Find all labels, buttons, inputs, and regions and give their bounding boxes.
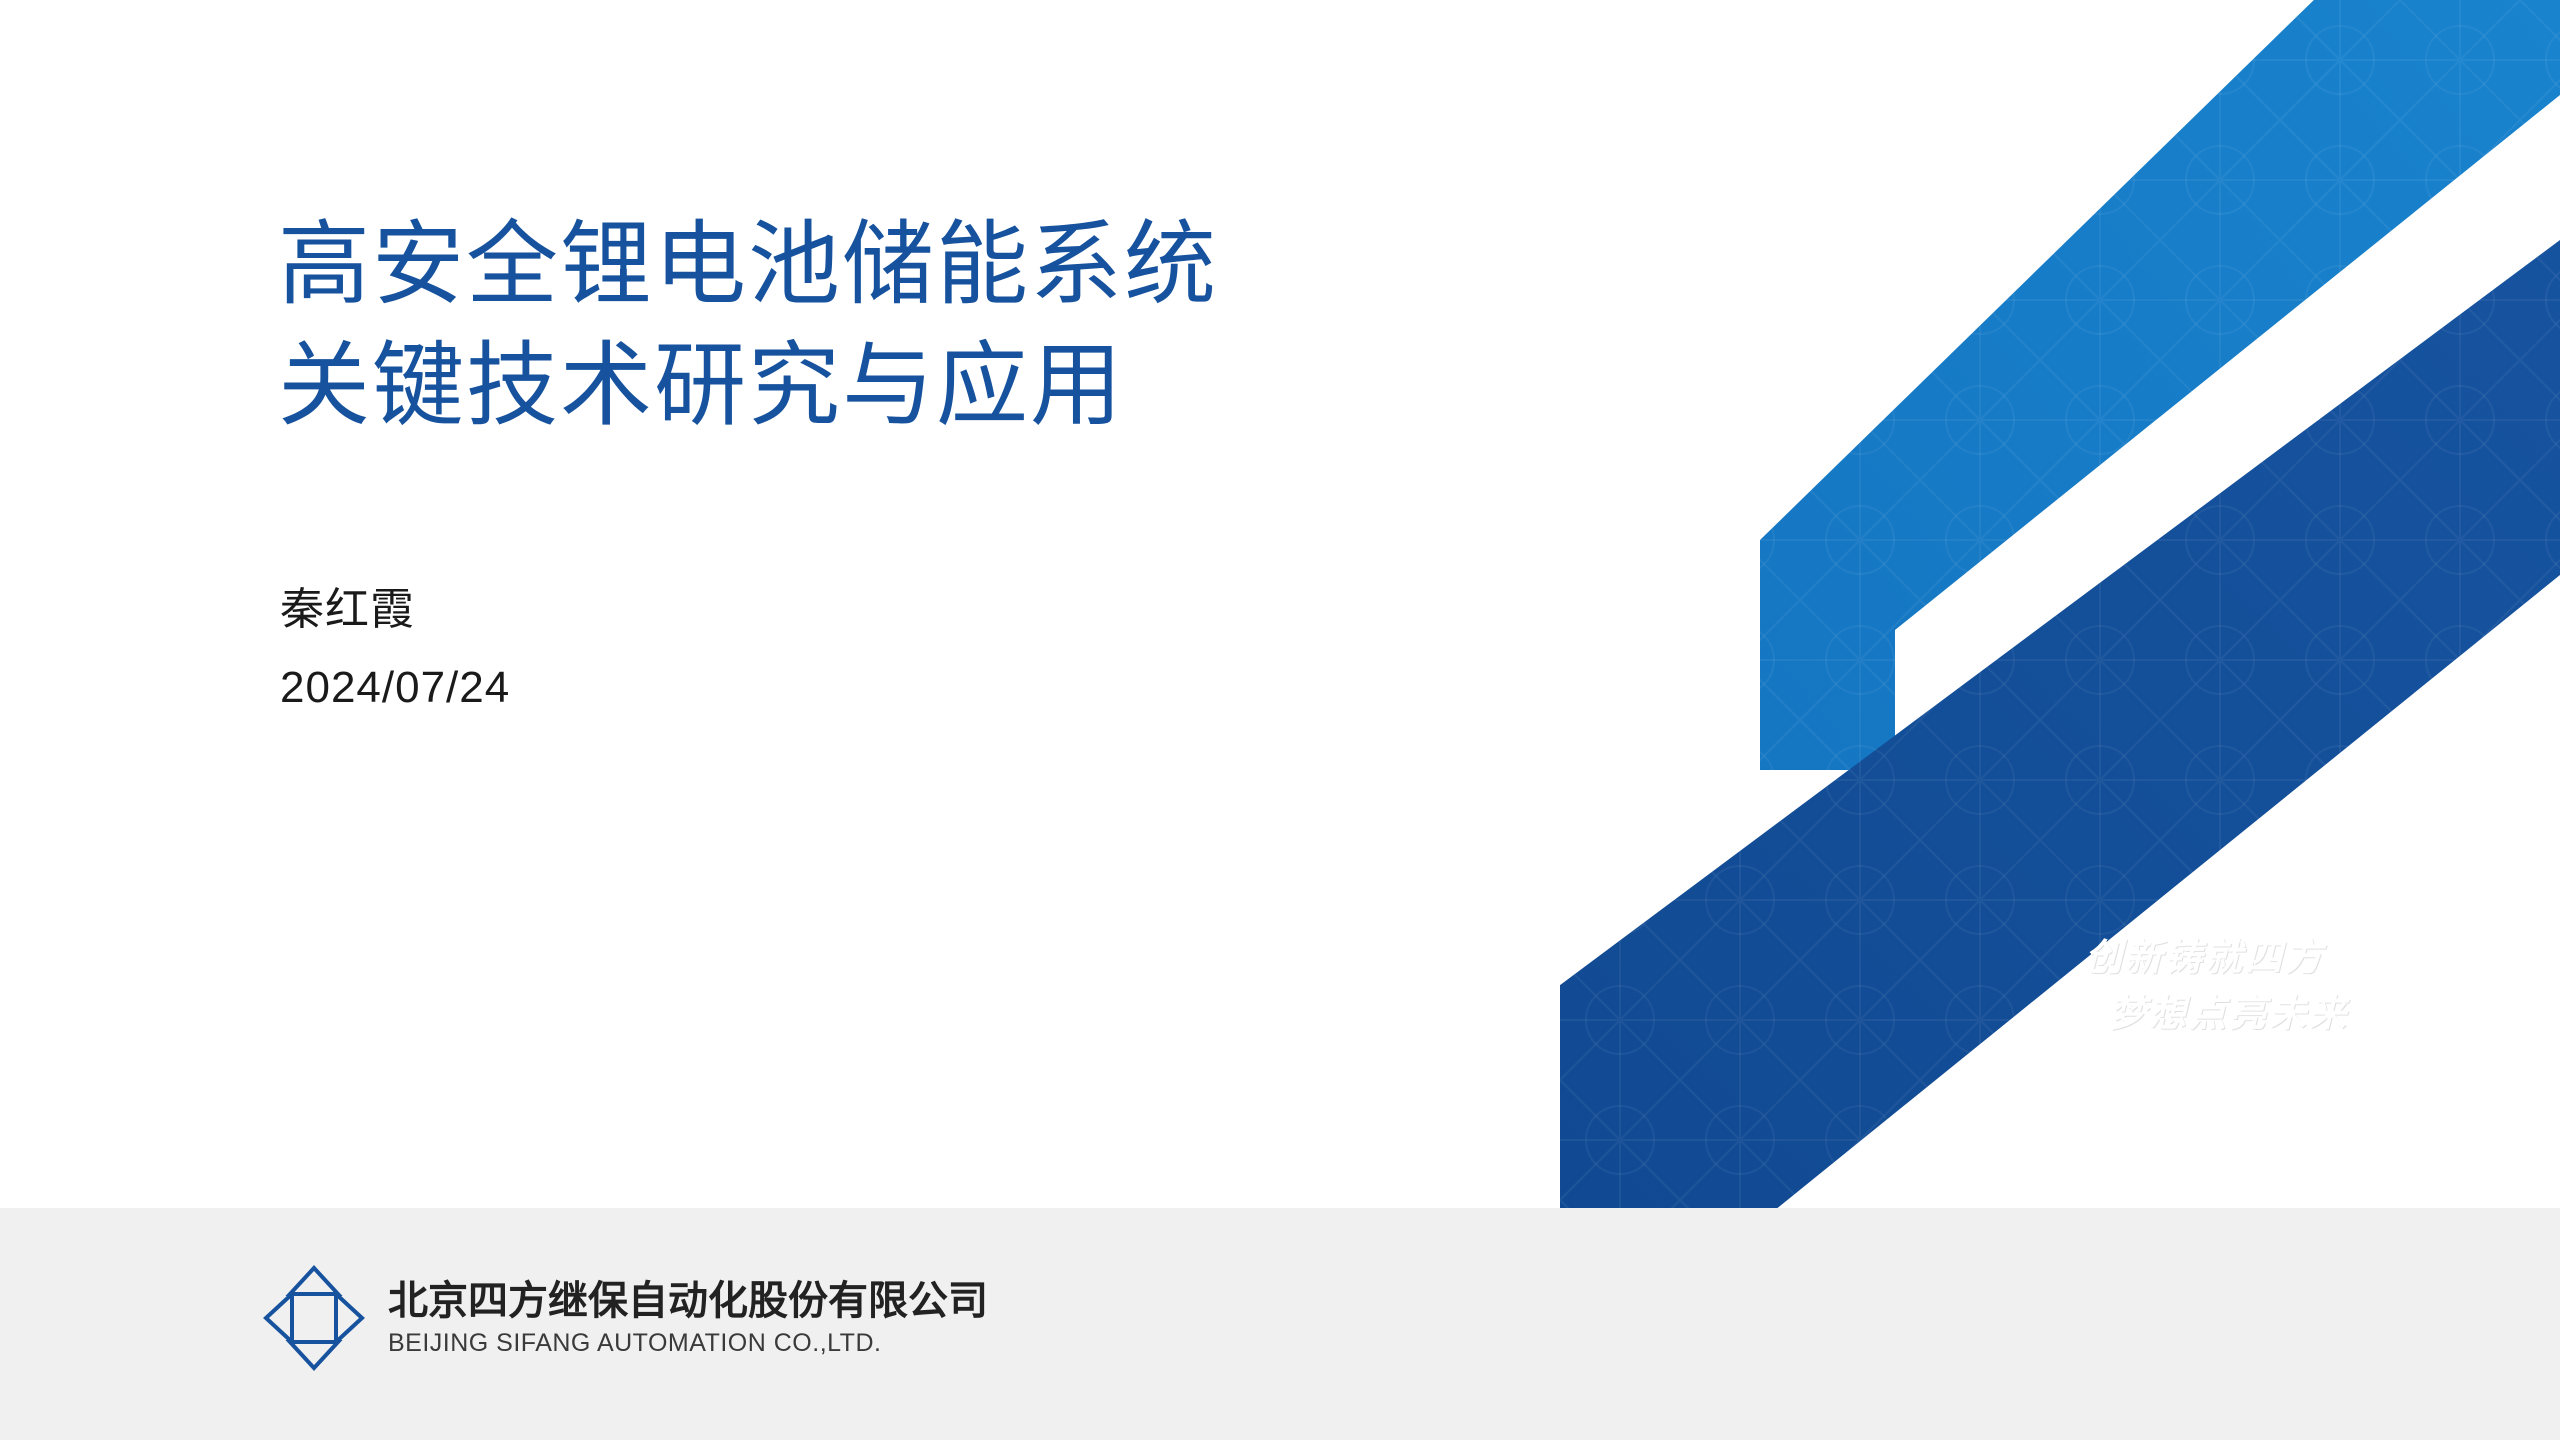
company-name-block: 北京四方继保自动化股份有限公司 BEIJING SIFANG AUTOMATIO… (388, 1279, 988, 1358)
presenter-meta: 秦红霞 2024/07/24 (280, 578, 510, 720)
sifang-diamond-logo-icon (262, 1262, 366, 1374)
company-identity: 北京四方继保自动化股份有限公司 BEIJING SIFANG AUTOMATIO… (262, 1262, 988, 1374)
presenter-name: 秦红霞 (280, 578, 510, 642)
brand-tagline: 创新铸就四方 梦想点亮未来 (1975, 930, 2435, 1041)
page-title-line1: 高安全锂电池储能系统 (278, 205, 1528, 326)
presentation-date: 2024/07/24 (280, 656, 510, 720)
page-title-line2: 关键技术研究与应用 (278, 326, 1528, 447)
brand-tagline-line2: 梦想点亮未来 (1975, 986, 2435, 1042)
graphic-band-lower (1560, 100, 2560, 1210)
brand-tagline-line1: 创新铸就四方 (1975, 930, 2435, 986)
title-slide: 创新铸就四方 梦想点亮未来 高安全锂电池储能系统 关键技术研究与应用 秦红霞 2… (0, 0, 2560, 1440)
company-name-cn: 北京四方继保自动化股份有限公司 (388, 1279, 988, 1323)
page-title: 高安全锂电池储能系统 关键技术研究与应用 (278, 205, 1528, 448)
company-name-en: BEIJING SIFANG AUTOMATION CO.,LTD. (388, 1330, 988, 1358)
